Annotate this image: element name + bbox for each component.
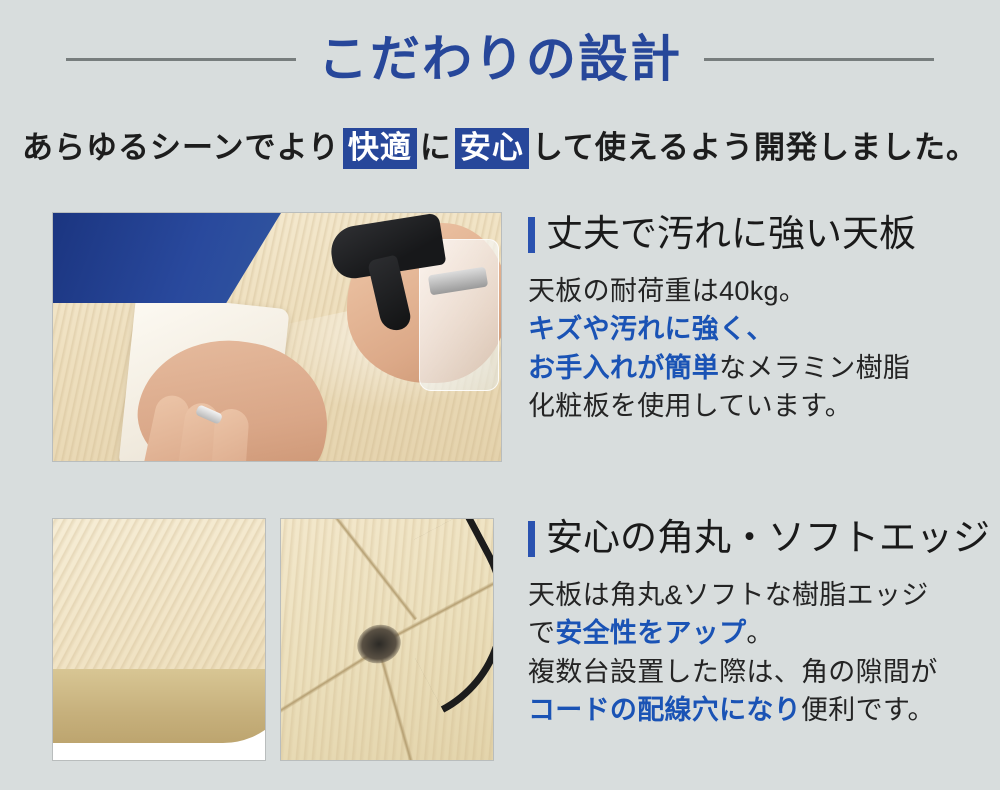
- feature-1-text: 丈夫で汚れに強い天板 天板の耐荷重は40kg。キズや汚れに強く、お手入れが簡単な…: [528, 216, 980, 425]
- body-text: で: [528, 618, 555, 648]
- body-line: で安全性をアップ。: [528, 614, 980, 652]
- feature-1-heading: 丈夫で汚れに強い天板: [528, 216, 980, 253]
- title-row: こだわりの設計: [0, 34, 1000, 84]
- page-header: こだわりの設計: [0, 0, 1000, 110]
- photo-cable-gap: [280, 518, 494, 761]
- subtitle-part-3: して使えるよう開発しました。: [532, 130, 978, 165]
- photo-rounded-corner: [52, 518, 266, 761]
- feature-2-photo-row: [52, 518, 494, 761]
- body-line: 天板は角丸&ソフトな樹脂エッジ: [528, 576, 980, 614]
- body-emphasis: 安全性をアップ: [555, 618, 746, 648]
- feature-2-body: 天板は角丸&ソフトな樹脂エッジで安全性をアップ。複数台設置した際は、角の隙間がコ…: [528, 576, 980, 729]
- feature-2-text: 安心の角丸・ソフトエッジ 天板は角丸&ソフトな樹脂エッジで安全性をアップ。複数台…: [528, 520, 980, 729]
- subtitle-part-1: あらゆるシーンでより: [22, 130, 340, 165]
- body-text: なメラミン樹脂: [719, 353, 910, 383]
- page-title: こだわりの設計: [318, 34, 682, 84]
- heading-bar-icon: [528, 521, 535, 557]
- body-line: 天板の耐荷重は40kg。: [528, 272, 980, 310]
- page-subtitle: あらゆるシーンでより快適に安心して使えるよう開発しました。: [0, 122, 1000, 167]
- soft-resin-edge-art: [52, 669, 266, 743]
- body-text: 。: [746, 618, 773, 648]
- subtitle-highlight-anshin: 安心: [455, 128, 529, 169]
- feature-1-heading-label: 丈夫で汚れに強い天板: [546, 216, 916, 253]
- feature-1-media: アルコール 使用OK: [52, 212, 502, 462]
- body-text: 便利です。: [801, 695, 935, 725]
- body-text: 複数台設置した際は、角の隙間が: [528, 657, 938, 687]
- subtitle-highlight-kaiteki: 快適: [343, 128, 417, 169]
- feature-2-heading: 安心の角丸・ソフトエッジ: [528, 520, 980, 557]
- subtitle-part-2: に: [420, 130, 452, 165]
- body-line: コードの配線穴になり便利です。: [528, 691, 980, 729]
- body-line: お手入れが簡単なメラミン樹脂: [528, 349, 980, 387]
- feature-1-body: 天板の耐荷重は40kg。キズや汚れに強く、お手入れが簡単なメラミン樹脂化粧板を使…: [528, 272, 980, 425]
- body-text: 天板は角丸&ソフトな樹脂エッジ: [528, 580, 929, 610]
- body-line: 複数台設置した際は、角の隙間が: [528, 653, 980, 691]
- body-text: 天板の耐荷重は40kg。: [528, 276, 806, 306]
- title-rule-right: [704, 58, 934, 61]
- title-rule-left: [66, 58, 296, 61]
- body-emphasis: キズや汚れに強く、: [528, 314, 774, 344]
- body-emphasis: お手入れが簡単: [528, 353, 719, 383]
- body-line: キズや汚れに強く、: [528, 310, 980, 348]
- body-text: 化粧板を使用しています。: [528, 391, 852, 421]
- feature-2-heading-label: 安心の角丸・ソフトエッジ: [546, 520, 990, 557]
- body-line: 化粧板を使用しています。: [528, 387, 980, 425]
- heading-bar-icon: [528, 217, 535, 253]
- body-emphasis: コードの配線穴になり: [528, 695, 801, 725]
- photo-desk-cleaning: アルコール 使用OK: [52, 212, 502, 462]
- feature-2-media: [52, 518, 494, 761]
